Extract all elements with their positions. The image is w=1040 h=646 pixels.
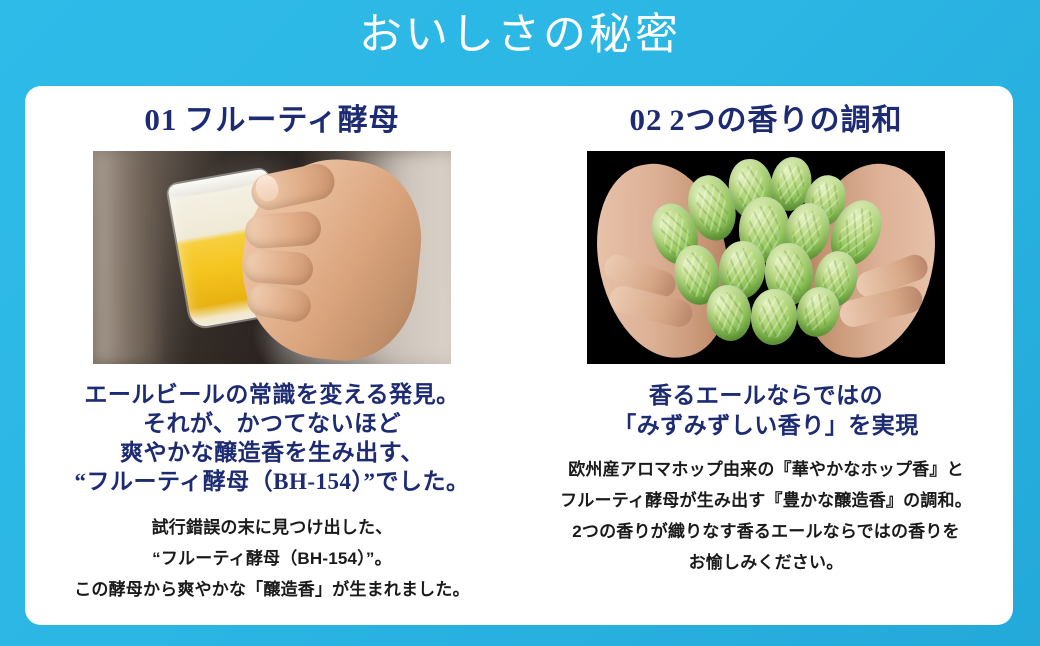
column-02-number: 02	[630, 102, 663, 137]
columns-container: 01フルーティ酵母	[25, 86, 1013, 625]
column-02: 022つの香りの調和	[519, 86, 1013, 625]
column-02-lead: 香るエールならではの 「みずみずしい香り」を実現	[519, 381, 1013, 441]
content-card: 01フルーティ酵母	[25, 86, 1013, 625]
column-01-lead: エールビールの常識を変える発見。 それが、かつてないほど 爽やかな醸造香を生み出…	[25, 380, 519, 496]
column-02-heading: 022つの香りの調和	[519, 100, 1013, 141]
column-01-number: 01	[144, 102, 177, 137]
column-02-heading-label: 2つの香りの調和	[670, 104, 903, 137]
column-01-heading: 01フルーティ酵母	[25, 100, 519, 141]
hop-cone-pile	[645, 159, 891, 345]
lead-line: 爽やかな醸造香を生み出す、	[25, 438, 519, 467]
lead-line: 香るエールならではの	[519, 381, 1013, 411]
body-line: お愉しみください。	[519, 547, 1013, 578]
body-line: フルーティ酵母が生み出す『豊かな醸造香』の調和。	[519, 485, 1013, 516]
lead-line: 「みずみずしい香り」を実現	[519, 411, 1013, 441]
column-02-photo-wrap	[587, 151, 945, 364]
lead-line: “フルーティ酵母（BH-154）”でした。	[25, 467, 519, 496]
photo-background-blur-left	[95, 151, 159, 364]
body-line: この酵母から爽やかな「醸造香」が生まれました。	[25, 574, 519, 605]
body-line: 欧州産アロマホップ由来の『華やかなホップ香』と	[519, 454, 1013, 485]
beer-glass-in-hand-photo	[93, 151, 451, 364]
lead-line: それが、かつてないほど	[25, 409, 519, 438]
page-title: おいしさの秘密	[0, 8, 1040, 64]
hop-cones-in-hands-photo	[587, 151, 945, 364]
body-line: 2つの香りが織りなす香るエールならではの香りを	[519, 516, 1013, 547]
column-01: 01フルーティ酵母	[25, 86, 519, 625]
column-01-heading-label: フルーティ酵母	[184, 104, 399, 137]
finger-icon	[242, 249, 314, 287]
lead-line: エールビールの常識を変える発見。	[25, 380, 519, 409]
column-01-body: 試行錯誤の末に見つけ出した、 “フルーティ酵母（BH-154）”。 この酵母から…	[25, 512, 519, 605]
finger-icon	[244, 210, 322, 249]
column-02-body: 欧州産アロマホップ由来の『華やかなホップ香』と フルーティ酵母が生み出す『豊かな…	[519, 454, 1013, 578]
promo-page: おいしさの秘密 01フルーティ酵母	[0, 0, 1040, 646]
body-line: “フルーティ酵母（BH-154）”。	[25, 543, 519, 574]
column-01-photo-wrap	[93, 151, 451, 364]
body-line: 試行錯誤の末に見つけ出した、	[25, 512, 519, 543]
